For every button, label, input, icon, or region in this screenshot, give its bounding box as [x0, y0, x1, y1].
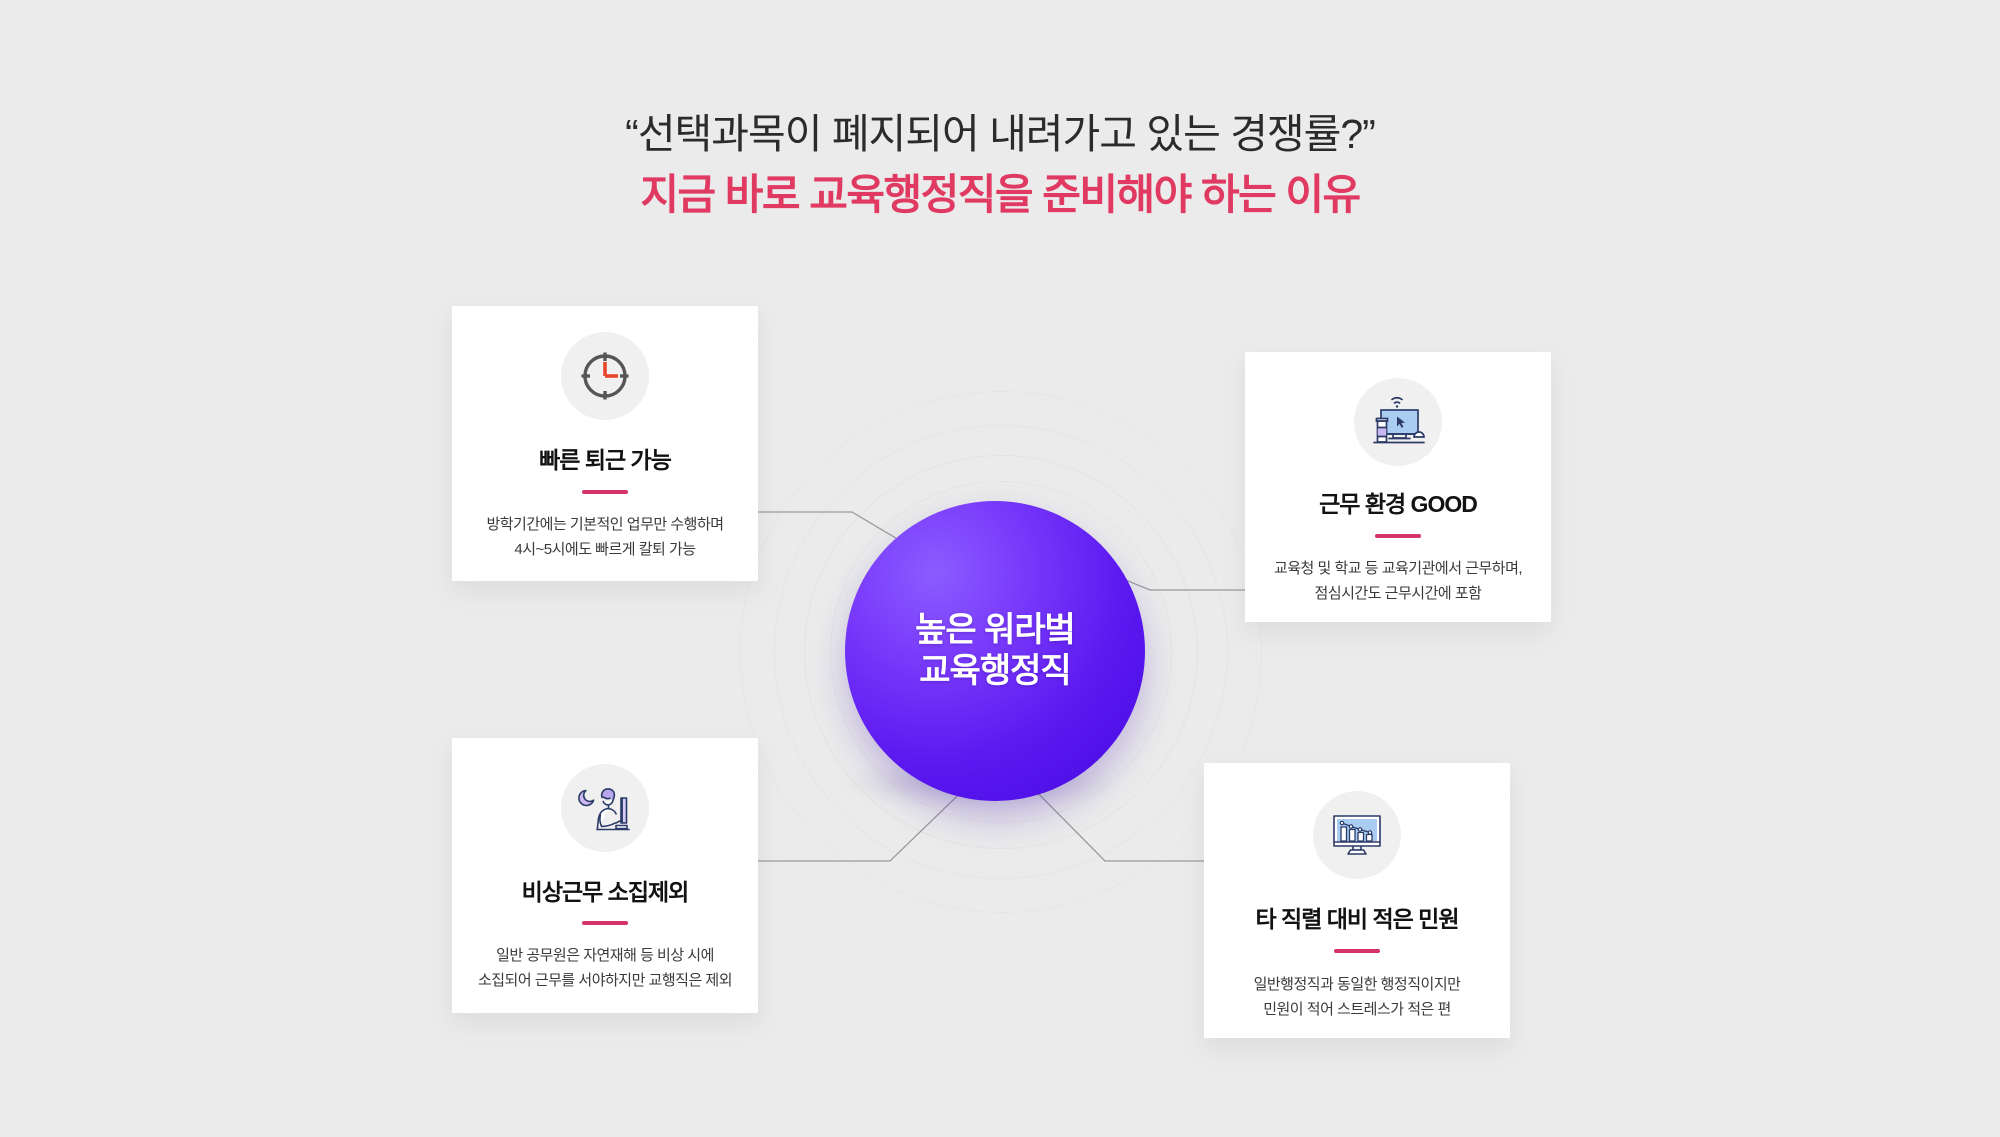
center-sphere: 높은 워라벜 교육행정직: [845, 501, 1145, 801]
center-label-line2: 교육행정직: [915, 651, 1075, 692]
card-divider: [582, 490, 628, 494]
center-sphere-label: 높은 워라벜 교육행정직: [915, 610, 1075, 693]
benefit-card-emergency-exempt[interactable]: 비상근무 소집제외 일반 공무원은 자연재해 등 비상 시에 소집되어 근무를 …: [452, 738, 758, 1013]
benefit-card-early-leave[interactable]: 빠른 퇴근 가능 방학기간에는 기본적인 업무만 수행하며 4시~5시에도 빠르…: [452, 306, 758, 581]
card-description: 일반행정직과 동일한 행정직이지만 민원이 적어 스트레스가 적은 편: [1254, 973, 1461, 1023]
card-description: 일반 공무원은 자연재해 등 비상 시에 소집되어 근무를 서야하지만 교행직은…: [478, 944, 732, 994]
clock-icon: [561, 332, 649, 420]
benefit-card-fewer-complaints[interactable]: 타 직렬 대비 적은 민원 일반행정직과 동일한 행정직이지만 민원이 적어 스…: [1204, 763, 1510, 1038]
card-divider: [1375, 534, 1421, 538]
benefit-card-work-environment[interactable]: 근무 환경 GOOD 교육청 및 학교 등 교육기관에서 근무하며, 점심시간도…: [1245, 352, 1551, 622]
card-title: 근무 환경 GOOD: [1319, 485, 1477, 519]
card-title: 타 직렬 대비 적은 민원: [1255, 900, 1458, 934]
declining-chart-monitor-icon: [1313, 791, 1401, 879]
card-divider: [1334, 949, 1380, 953]
card-description: 교육청 및 학교 등 교육기관에서 근무하며, 점심시간도 근무시간에 포함: [1274, 557, 1522, 607]
night-work-icon: [561, 764, 649, 852]
center-label-line1: 높은 워라벜: [915, 610, 1075, 651]
card-title: 비상근무 소집제외: [522, 873, 689, 907]
infographic-canvas: “선택과목이 폐지되어 내려가고 있는 경쟁률?” 지금 바로 교육행정직을 준…: [0, 0, 2000, 1137]
card-description: 방학기간에는 기본적인 업무만 수행하며 4시~5시에도 빠르게 칼퇴 가능: [486, 513, 723, 563]
card-title: 빠른 퇴근 가능: [539, 441, 671, 475]
card-divider: [582, 921, 628, 925]
desktop-workspace-icon: [1354, 378, 1442, 466]
